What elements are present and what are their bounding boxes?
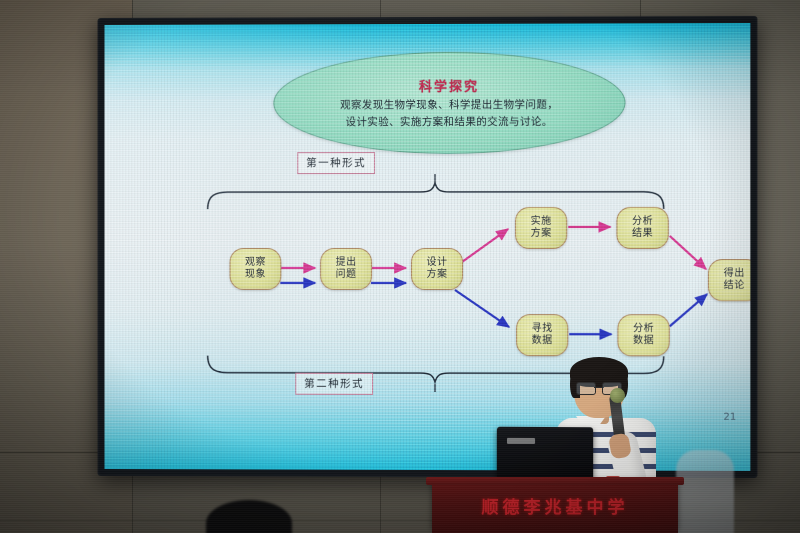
photograph-of-presentation: 科学探究 观察发现生物学现象、科学提出生物学问题， 设计实验、实施方案和结果的交… <box>0 0 800 533</box>
photo-vignette <box>0 0 800 533</box>
